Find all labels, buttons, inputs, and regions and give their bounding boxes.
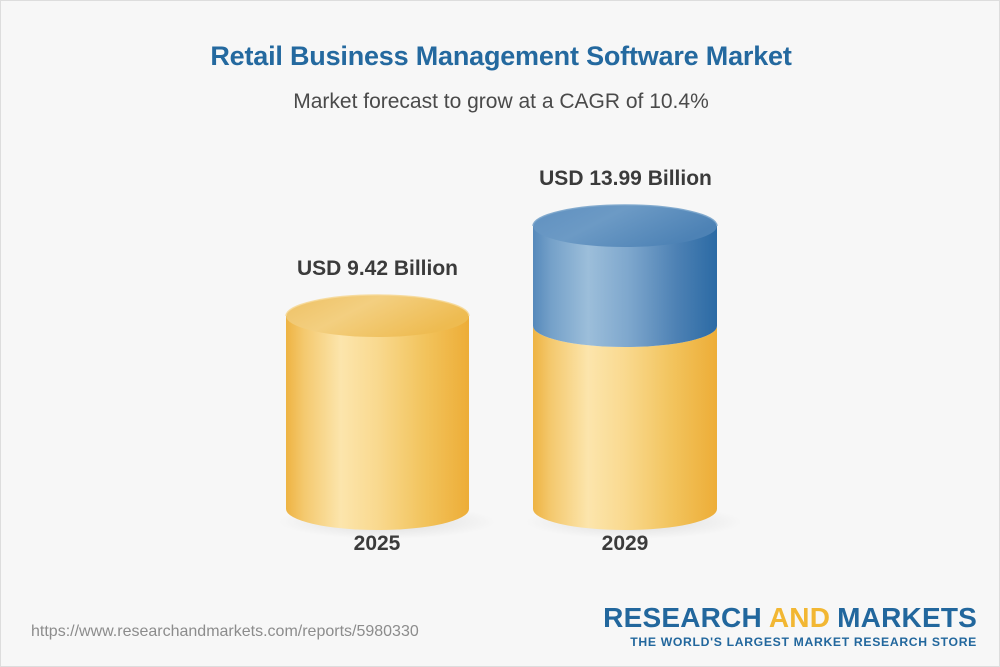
chart-canvas: Retail Business Management Software Mark… bbox=[0, 0, 1000, 667]
bar-2029 bbox=[526, 205, 742, 539]
logo-word-and: AND bbox=[769, 602, 830, 633]
logo-word-research: RESEARCH bbox=[603, 602, 762, 633]
bar-2025-value-label: USD 9.42 Billion bbox=[237, 257, 518, 281]
source-url[interactable]: https://www.researchandmarkets.com/repor… bbox=[31, 623, 419, 641]
bar-2029-value-label: USD 13.99 Billion bbox=[485, 167, 766, 191]
bar-2025-body bbox=[286, 316, 469, 530]
logo-tagline: THE WORLD'S LARGEST MARKET RESEARCH STOR… bbox=[603, 635, 977, 649]
axis-label-2025: 2025 bbox=[277, 532, 477, 556]
plot-area: USD 9.42 Billion USD 13.99 Billion 2025 … bbox=[1, 1, 1000, 601]
bar-2029-base-segment bbox=[533, 326, 717, 530]
logo-wordmark: RESEARCHANDMARKETS bbox=[603, 604, 977, 632]
cylinder-bars-svg bbox=[1, 1, 1000, 601]
bar-2025 bbox=[279, 295, 495, 539]
axis-label-2029: 2029 bbox=[525, 532, 725, 556]
brand-logo[interactable]: RESEARCHANDMARKETS THE WORLD'S LARGEST M… bbox=[603, 604, 977, 649]
logo-word-markets: MARKETS bbox=[837, 602, 977, 633]
